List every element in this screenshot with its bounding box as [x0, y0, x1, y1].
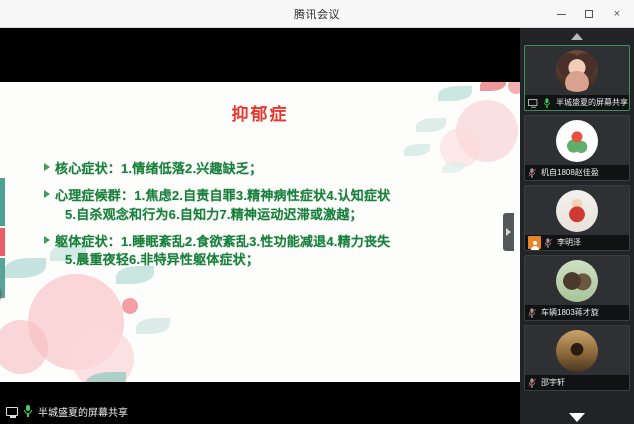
triangle-bullet-icon: [44, 163, 50, 171]
participant-nameplate: 机自1808赵佳盈: [525, 165, 629, 180]
microphone-muted-icon: [528, 168, 536, 177]
close-button[interactable]: ×: [604, 3, 630, 25]
screen-share-icon: [528, 99, 537, 106]
window-title-bar: 腾讯会议 ×: [0, 0, 634, 28]
avatar: [556, 120, 598, 162]
participant-name: 李明泽: [557, 237, 581, 248]
participant-nameplate: 车辆1803蒋才旋: [525, 305, 629, 320]
bullet-text: 核心症状：1.情绪低落2.兴趣缺乏；: [55, 160, 262, 179]
avatar: [556, 190, 598, 232]
avatar: [556, 260, 598, 302]
chevron-up-icon: [571, 33, 583, 40]
triangle-bullet-icon: [44, 236, 50, 244]
scroll-down-arrow[interactable]: [520, 413, 634, 422]
microphone-icon: [543, 98, 551, 107]
participant-tile[interactable]: 李明泽: [524, 185, 630, 251]
microphone-muted-icon: [544, 238, 552, 247]
screen-share-icon: [6, 407, 18, 416]
host-badge-icon: [528, 236, 541, 249]
collapse-sidebar-handle[interactable]: [503, 213, 514, 251]
participant-tile[interactable]: 车辆1803蒋才旋: [524, 255, 630, 321]
slide-bullet-list: 核心症状：1.情绪低落2.兴趣缺乏； 心理症候群：1.焦虑2.自责自罪3.精神病…: [44, 160, 502, 278]
chevron-right-icon: [506, 228, 511, 236]
shared-screen-stage[interactable]: 抑郁症 核心症状：1.情绪低落2.兴趣缺乏； 心理症候群：1.焦虑2.自责自罪3…: [0, 28, 520, 424]
minimize-button[interactable]: [548, 3, 574, 25]
avatar: [556, 50, 598, 92]
microphone-icon: [23, 405, 33, 417]
triangle-bullet-icon: [44, 190, 50, 198]
tencent-meeting-window: 腾讯会议 ×: [0, 0, 634, 424]
avatar: [556, 330, 598, 372]
participant-name: 邵宇轩: [541, 377, 565, 388]
microphone-muted-icon: [528, 378, 536, 387]
participant-name: 车辆1803蒋才旋: [541, 307, 599, 318]
window-controls: ×: [548, 0, 630, 28]
bullet-item: 心理症候群：1.焦虑2.自责自罪3.精神病性症状4.认知症状 5.自杀观念和行为…: [44, 187, 502, 225]
floral-decoration-left-stripe: [0, 178, 18, 298]
participant-tile-list: 半城盛夏的屏幕共享机自1808赵佳盈李明泽车辆1803蒋才旋邵宇轩: [520, 45, 634, 391]
bullet-text: 心理症候群：1.焦虑2.自责自罪3.精神病性症状4.认知症状 5.自杀观念和行为…: [55, 187, 390, 225]
microphone-muted-icon: [528, 308, 536, 317]
participant-nameplate: 邵宇轩: [525, 375, 629, 390]
maximize-button[interactable]: [576, 3, 602, 25]
participant-nameplate: 半城盛夏的屏幕共享: [525, 95, 629, 110]
chevron-down-icon: [569, 413, 585, 422]
scroll-up-arrow[interactable]: [520, 28, 634, 45]
bullet-item: 躯体症状：1.睡眠紊乱2.食欲紊乱3.性功能减退4.精力丧失 5.晨重夜轻6.非…: [44, 233, 502, 271]
screen-share-status-bar: 半城盛夏的屏幕共享: [0, 398, 520, 424]
slide-title: 抑郁症: [0, 100, 520, 125]
participant-sidebar[interactable]: 半城盛夏的屏幕共享机自1808赵佳盈李明泽车辆1803蒋才旋邵宇轩: [520, 28, 634, 424]
participant-name: 机自1808赵佳盈: [541, 167, 599, 178]
window-title: 腾讯会议: [294, 6, 340, 22]
participant-nameplate: 李明泽: [525, 235, 629, 250]
bullet-item: 核心症状：1.情绪低落2.兴趣缺乏；: [44, 160, 502, 179]
screen-share-label: 半城盛夏的屏幕共享: [38, 404, 128, 419]
participant-name: 半城盛夏的屏幕共享: [556, 97, 628, 108]
participant-tile[interactable]: 机自1808赵佳盈: [524, 115, 630, 181]
participant-tile[interactable]: 半城盛夏的屏幕共享: [524, 45, 630, 111]
bullet-text: 躯体症状：1.睡眠紊乱2.食欲紊乱3.性功能减退4.精力丧失 5.晨重夜轻6.非…: [55, 233, 390, 271]
presentation-slide: 抑郁症 核心症状：1.情绪低落2.兴趣缺乏； 心理症候群：1.焦虑2.自责自罪3…: [0, 82, 520, 382]
participant-tile[interactable]: 邵宇轩: [524, 325, 630, 391]
